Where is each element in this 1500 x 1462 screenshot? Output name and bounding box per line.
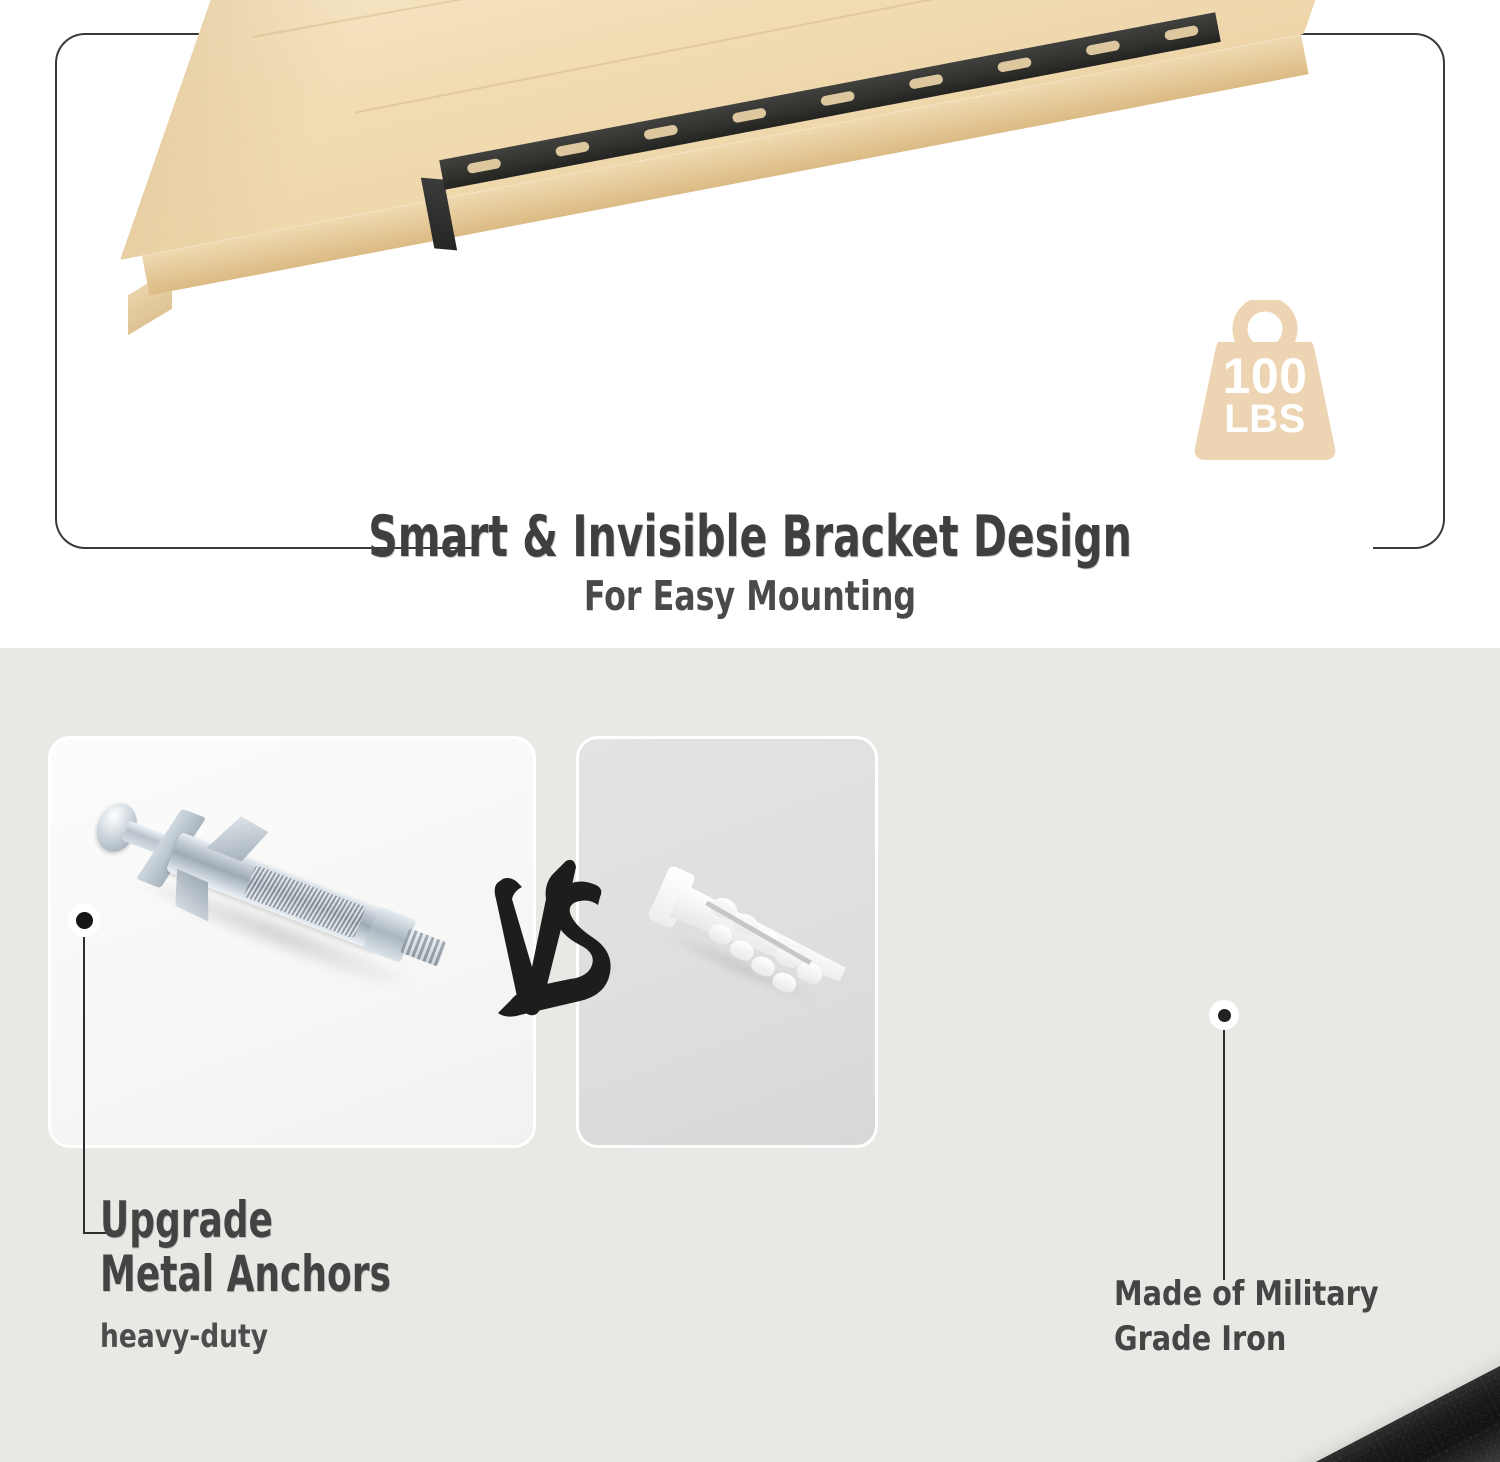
bracket-slot: [466, 158, 501, 174]
callout-ring-center: [1218, 1009, 1231, 1022]
vs-badge: VS: [492, 855, 624, 1023]
bracket-slot: [643, 124, 678, 140]
frame-edge-left: [55, 78, 57, 510]
weight-badge-text: 100 LBS: [1190, 352, 1340, 438]
weight-badge-number: 100: [1190, 352, 1340, 400]
shelf-product-photo: [120, 10, 1360, 480]
caption-line-1: Made of Military: [1114, 1272, 1379, 1317]
callout-dot-center: [76, 912, 93, 929]
bracket-slot: [997, 57, 1032, 73]
pipe-texture: [870, 1352, 1500, 1462]
metal-anchor-leader-line: [83, 937, 85, 1195]
bracket-slot: [1085, 40, 1120, 56]
metal-anchor-caption: Upgrade Metal Anchors heavy-duty: [100, 1193, 464, 1355]
headline: Smart & Invisible Bracket Design: [150, 504, 1350, 570]
bracket-slot: [908, 74, 943, 90]
bracket-slot: [820, 90, 855, 106]
bracket-slot: [732, 107, 767, 123]
weight-capacity-badge: 100 LBS: [1190, 300, 1340, 465]
caption-line-3: heavy-duty: [100, 1317, 435, 1355]
iron-pipe-photo: [880, 1388, 1500, 1462]
metal-anchor-leader-bracket: [83, 1188, 85, 1234]
frame-edge-right: [1443, 78, 1445, 510]
caption-line-2: Metal Anchors: [100, 1247, 391, 1301]
wood-grain-line: [252, 0, 1231, 38]
bracket-slot: [1164, 25, 1199, 41]
iron-pipe-caption: Made of Military Grade Iron: [1114, 1272, 1379, 1362]
caption-line-2: Grade Iron: [1114, 1317, 1379, 1362]
vs-brush-icon: VS: [492, 855, 624, 1023]
caption-line-1: Upgrade: [100, 1193, 391, 1247]
subheadline: For Easy Mounting: [105, 572, 1395, 620]
iron-pipe-leader-line: [1223, 1030, 1225, 1280]
frame-corner-bottom-left: [55, 503, 87, 549]
metal-anchor-callout-dot: [67, 903, 101, 937]
iron-pipe-body: [870, 1352, 1500, 1462]
bracket-slot: [555, 141, 590, 157]
product-feature-graphic: 100 LBS Smart & Invisible Bracket Design…: [0, 0, 1500, 1462]
frame-corner-top-right: [1413, 33, 1445, 79]
anchor-threaded-tip: [400, 928, 447, 967]
frame-corner-bottom-right: [1413, 503, 1445, 549]
iron-pipe-callout-ring: [1209, 1000, 1239, 1030]
weight-badge-unit: LBS: [1190, 400, 1340, 438]
frame-corner-top-left: [55, 33, 87, 79]
top-feature-panel: 100 LBS Smart & Invisible Bracket Design…: [0, 0, 1500, 648]
frame-edge-bottom-right: [1373, 547, 1415, 549]
